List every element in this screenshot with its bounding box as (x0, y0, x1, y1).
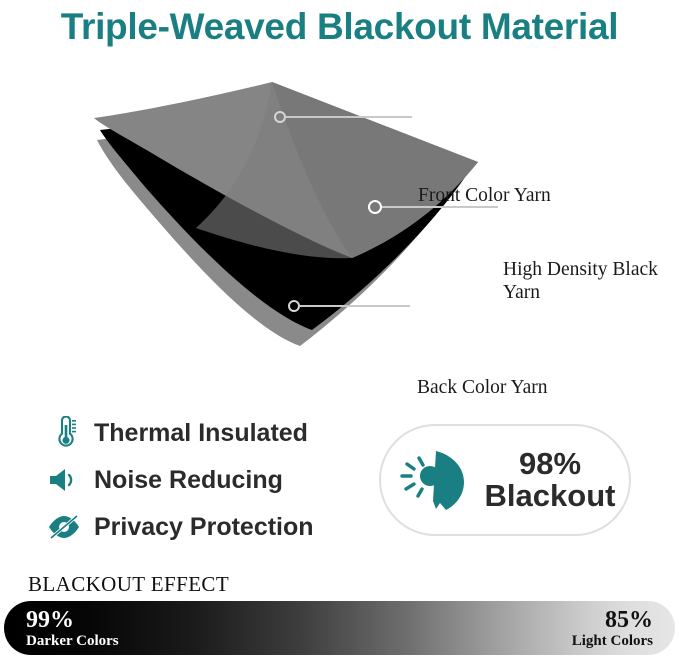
feature-label-thermal: Thermal Insulated (94, 419, 308, 447)
feature-label-noise: Noise Reducing (94, 466, 283, 494)
bar-left-caption: Darker Colors (26, 634, 119, 650)
fabric-layers-diagram: Front Color Yarn High Density Black Yarn… (0, 78, 679, 356)
bar-left-group: 99% Darker Colors (26, 608, 119, 650)
blackout-word: Blackout (485, 480, 616, 512)
callout-label-back: Back Color Yarn (417, 376, 548, 399)
eye-slash-icon (44, 509, 84, 545)
blackout-percent: 98% (485, 448, 616, 480)
callout-label-front: Front Color Yarn (418, 184, 551, 207)
blackout-effect-bar: 99% Darker Colors 85% Light Colors (4, 601, 675, 655)
product-infographic: Triple-Weaved Blackout Material (0, 0, 679, 656)
blackout-badge: 98% Blackout (379, 424, 631, 536)
feature-item-noise: Noise Reducing (44, 459, 374, 501)
bar-right-group: 85% Light Colors (572, 608, 653, 650)
blackout-badge-text: 98% Blackout (485, 448, 616, 512)
speaker-sound-icon (44, 462, 84, 498)
feature-item-thermal: Thermal Insulated (44, 412, 374, 454)
sun-blocked-icon (395, 444, 473, 516)
page-title: Triple-Weaved Blackout Material (0, 4, 679, 50)
feature-list: Thermal Insulated Noise Reducing Pri (44, 412, 374, 553)
callout-label-middle: High Density Black Yarn (503, 258, 663, 304)
feature-label-privacy: Privacy Protection (94, 513, 314, 541)
feature-item-privacy: Privacy Protection (44, 506, 374, 548)
thermometer-icon (44, 415, 84, 451)
bar-right-percent: 85% (572, 608, 653, 633)
blackout-effect-title: BLACKOUT EFFECT (28, 572, 229, 597)
bar-right-caption: Light Colors (572, 634, 653, 650)
bar-left-percent: 99% (26, 608, 119, 633)
